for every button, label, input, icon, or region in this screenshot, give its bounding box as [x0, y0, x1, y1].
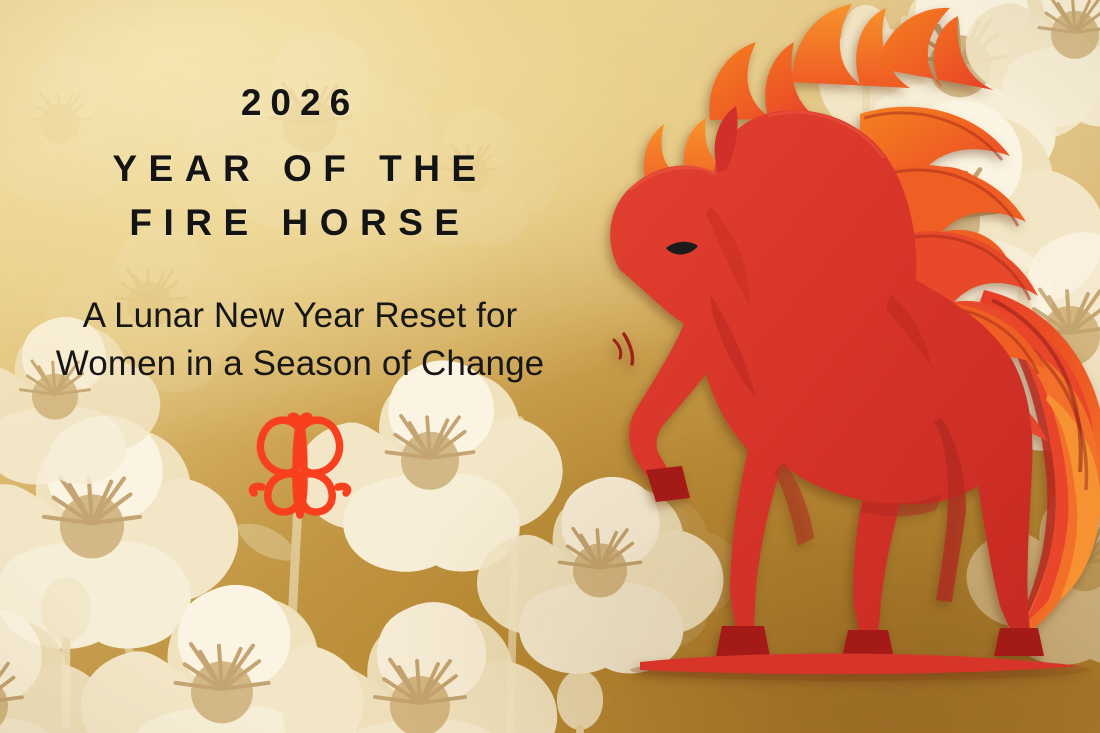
year-label: 2026 [241, 84, 359, 121]
subtitle: A Lunar New Year Reset for Women in a Se… [30, 292, 570, 387]
subtitle-line-1: A Lunar New Year Reset for [83, 296, 518, 335]
subtitle-line-2: Women in a Season of [56, 344, 411, 383]
headline-line-2: FIRE HORSE [30, 196, 570, 250]
butterfly-monogram-logo [248, 409, 352, 521]
poster-canvas: 2026 YEAR OF THE FIRE HORSE A Lunar New … [0, 0, 1100, 733]
fire-horse-papercut [560, 0, 1100, 733]
page-title: YEAR OF THE FIRE HORSE [30, 142, 570, 250]
subtitle-line-3: Change [421, 344, 544, 383]
text-block: 2026 YEAR OF THE FIRE HORSE A Lunar New … [0, 0, 600, 733]
headline-line-1: YEAR OF THE [112, 148, 487, 189]
